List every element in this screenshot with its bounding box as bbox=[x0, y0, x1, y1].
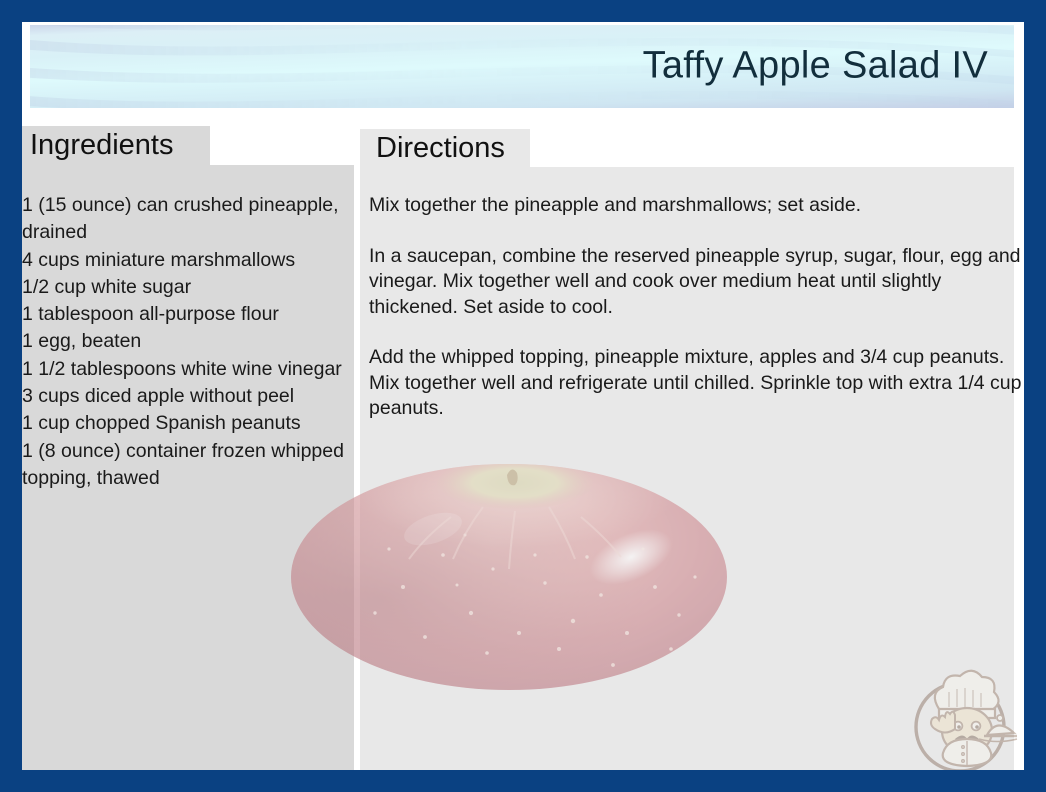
ingredient-item: 1 cup chopped Spanish peanuts bbox=[22, 410, 352, 437]
direction-step: Add the whipped topping, pineapple mixtu… bbox=[369, 345, 1029, 422]
page-title: Taffy Apple Salad IV bbox=[643, 44, 988, 87]
ingredient-item: 1 (8 ounce) container frozen whipped top… bbox=[22, 438, 352, 493]
ingredients-heading: Ingredients bbox=[14, 126, 354, 162]
ingredient-item: 4 cups miniature marshmallows bbox=[22, 247, 352, 274]
ingredients-list: 1 (15 ounce) can crushed pineapple, drai… bbox=[22, 192, 352, 492]
frame-border-bottom bbox=[0, 770, 1046, 792]
ingredient-item: 1/2 cup white sugar bbox=[22, 274, 352, 301]
ingredient-item: 1 (15 ounce) can crushed pineapple, drai… bbox=[22, 192, 352, 247]
chef-hat-icon bbox=[935, 671, 999, 710]
ingredient-item: 1 1/2 tablespoons white wine vinegar bbox=[22, 356, 352, 383]
chef-mascot-logo bbox=[899, 657, 1021, 779]
frame-border-top bbox=[0, 0, 1046, 22]
directions-text: Mix together the pineapple and marshmall… bbox=[369, 193, 1029, 422]
ingredient-item: 3 cups diced apple without peel bbox=[22, 383, 352, 410]
ingredient-item: 1 tablespoon all-purpose flour bbox=[22, 301, 352, 328]
direction-step: In a saucepan, combine the reserved pine… bbox=[369, 244, 1029, 321]
directions-heading: Directions bbox=[360, 129, 1014, 165]
recipe-slide: Taffy Apple Salad IV Ingredients Directi… bbox=[0, 0, 1046, 792]
direction-step: Mix together the pineapple and marshmall… bbox=[369, 193, 1029, 219]
header-banner: Taffy Apple Salad IV bbox=[30, 25, 1014, 108]
ingredient-item: 1 egg, beaten bbox=[22, 328, 352, 355]
chef-hand-icon bbox=[931, 712, 955, 733]
frame-border-right bbox=[1024, 0, 1046, 792]
frame-border-left bbox=[0, 0, 22, 792]
